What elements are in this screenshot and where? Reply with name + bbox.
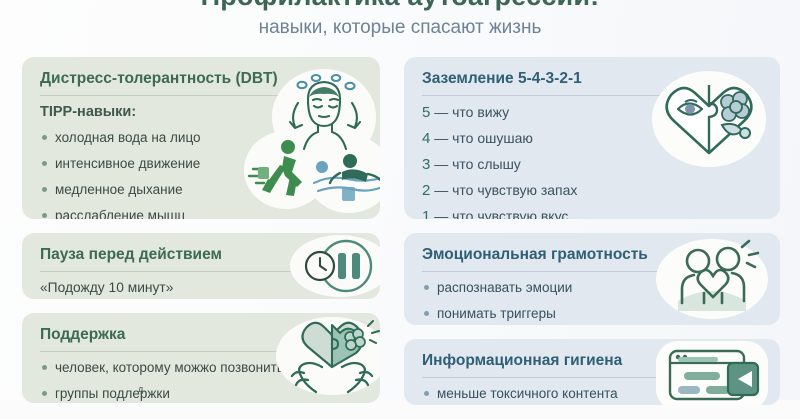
divider (422, 377, 690, 378)
step-number: 4 (422, 130, 430, 147)
infographic-page: Профилактика аутоагрессии: навыки, котор… (0, 0, 800, 400)
right-column: Заземление 5-4-3-2-1 5 — что вижу 4 — чт… (404, 57, 780, 419)
card-title-information-hygiene: Информационная гигиена (422, 351, 766, 371)
page-title: Профилактика аутоагрессии: (0, 0, 800, 12)
card-grounding[interactable]: Заземление 5-4-3-2-1 5 — что вижу 4 — чт… (404, 57, 780, 219)
emotional-literacy-list: распознавать эмоции понимать триггеры ра… (422, 279, 766, 325)
list-item: 2 — что чувствую запах (422, 181, 766, 200)
step-text: — что чувствую запах (434, 182, 577, 198)
grounding-steps-list: 5 — что вижу 4 — что ошушаю 3 — что слыш… (422, 103, 766, 219)
pause-quote: «Подожду 10 минут» (40, 279, 366, 297)
list-item: понимать триггеры (422, 305, 766, 322)
list-item: 4 — что ошушаю (422, 129, 766, 148)
support-list: человек, которому можжо позвонить группы… (40, 359, 366, 403)
page-header: Профилактика аутоагрессии: навыки, котор… (0, 0, 800, 40)
card-information-hygiene[interactable]: Информационная гигиена меньше токсичного… (404, 339, 780, 405)
step-text: — что ошушаю (434, 130, 533, 146)
page-subtitle: навыки, которые спасают жизнь (0, 16, 800, 40)
card-title-grounding: Заземление 5-4-3-2-1 (422, 69, 766, 89)
list-item: 5 — что вижу (422, 103, 766, 122)
list-item: меньше токсичного контента (422, 385, 766, 402)
list-item: 1 — что чувствую вкус (422, 207, 766, 219)
information-hygiene-list: меньше токсичного контента б (422, 385, 766, 405)
render-artifact-glyph: д (138, 385, 143, 394)
step-number: 1 (422, 208, 430, 219)
card-emotional-literacy[interactable]: Эмоциональная грамотность распознавать э… (404, 233, 780, 325)
list-item: человек, которому можжо позвонить (40, 359, 366, 376)
tipp-skills-label: TIPP-навыки: (40, 103, 366, 122)
card-title-emotional-literacy: Эмоциональная грамотность (422, 245, 766, 265)
list-item: холодная вода на лицо (40, 129, 366, 146)
list-item: 3 — что слышу (422, 155, 766, 174)
list-item: группы подлержки (40, 385, 366, 402)
step-number: 5 (422, 104, 430, 121)
divider (40, 95, 294, 96)
divider (40, 351, 294, 352)
divider (422, 271, 690, 272)
step-text: — что слышу (434, 156, 521, 172)
card-distress-tolerance[interactable]: Дистресс-толерантность (DBT) TIPP-навыки… (22, 57, 380, 219)
divider (40, 271, 294, 272)
left-column: Дистресс-толерантность (DBT) TIPP-навыки… (22, 57, 380, 417)
list-item: интенсивное движение (40, 155, 366, 172)
step-text: — что вижу (434, 104, 509, 120)
card-title-support: Поддержка (40, 325, 366, 345)
list-item: расслабление мышц (40, 207, 366, 219)
step-text: — что чувствую вкус (434, 208, 568, 219)
list-item: распознавать эмоции (422, 279, 766, 296)
step-number: 2 (422, 182, 430, 199)
card-support[interactable]: Поддержка человек, которому можжо позвон… (22, 313, 380, 403)
divider (422, 95, 690, 96)
card-title-pause-before-action: Пауза перед действием (40, 245, 366, 265)
card-pause-before-action[interactable]: Пауза перед действием «Подожду 10 минут» (22, 233, 380, 299)
list-item: медленное дыхание (40, 181, 366, 198)
distress-tolerance-list: холодная вода на лицо интенсивное движен… (40, 129, 366, 219)
step-number: 3 (422, 156, 430, 173)
card-title-distress-tolerance: Дистресс-толерантность (DBT) (40, 69, 366, 89)
